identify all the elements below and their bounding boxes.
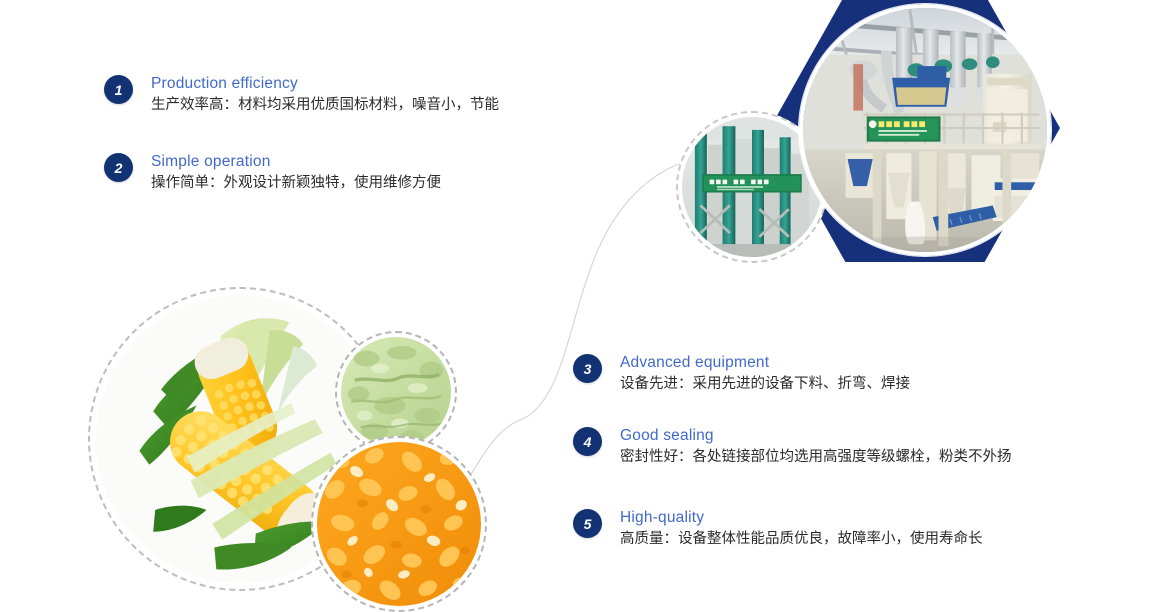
feature-badge-4: 4 [573, 427, 602, 456]
flour-milling-plant-photo [803, 8, 1047, 252]
corn-grits-photo-circle [311, 436, 487, 612]
feature-text-2: Simple operation 操作简单：外观设计新颖独特，使用维修方便 [151, 152, 441, 194]
feature-item-4[interactable]: 4 Good sealing 密封性好：各处链接部位均选用高强度等级螺栓，粉类不… [573, 426, 1012, 468]
corn-paste-photo-circle [335, 331, 457, 453]
feature-body-3: 设备先进：采用先进的设备下料、折弯、焊接 [620, 373, 910, 395]
feature-heading-5: High-quality [620, 508, 983, 527]
feature-badge-3: 3 [573, 354, 602, 383]
feature-heading-3: Advanced equipment [620, 353, 910, 372]
feature-body-4: 密封性好：各处链接部位均选用高强度等级螺栓，粉类不外扬 [620, 446, 1012, 468]
feature-badge-2: 2 [104, 153, 133, 182]
corn-grits-photo [317, 442, 481, 606]
feature-heading-1: Production efficiency [151, 74, 499, 93]
feature-item-5[interactable]: 5 High-quality 高质量：设备整体性能品质优良，故障率小，使用寿命长 [573, 508, 983, 550]
infographic-stage: 1 Production efficiency 生产效率高：材料均采用优质国标材… [0, 0, 1154, 591]
main-photo-circle [799, 4, 1051, 256]
corn-paste-photo [341, 337, 451, 447]
feature-heading-2: Simple operation [151, 152, 441, 171]
feature-text-4: Good sealing 密封性好：各处链接部位均选用高强度等级螺栓，粉类不外扬 [620, 426, 1012, 468]
feature-body-5: 高质量：设备整体性能品质优良，故障率小，使用寿命长 [620, 528, 983, 550]
feature-body-1: 生产效率高：材料均采用优质国标材料，噪音小，节能 [151, 94, 499, 116]
feature-text-1: Production efficiency 生产效率高：材料均采用优质国标材料，… [151, 74, 499, 116]
feature-body-2: 操作简单：外观设计新颖独特，使用维修方便 [151, 172, 441, 194]
feature-badge-1: 1 [104, 75, 133, 104]
feature-item-3[interactable]: 3 Advanced equipment 设备先进：采用先进的设备下料、折弯、焊… [573, 353, 910, 395]
feature-heading-4: Good sealing [620, 426, 1012, 445]
feature-text-3: Advanced equipment 设备先进：采用先进的设备下料、折弯、焊接 [620, 353, 910, 395]
feature-item-1[interactable]: 1 Production efficiency 生产效率高：材料均采用优质国标材… [104, 74, 499, 116]
feature-item-2[interactable]: 2 Simple operation 操作简单：外观设计新颖独特，使用维修方便 [104, 152, 441, 194]
feature-badge-5: 5 [573, 509, 602, 538]
feature-text-5: High-quality 高质量：设备整体性能品质优良，故障率小，使用寿命长 [620, 508, 983, 550]
